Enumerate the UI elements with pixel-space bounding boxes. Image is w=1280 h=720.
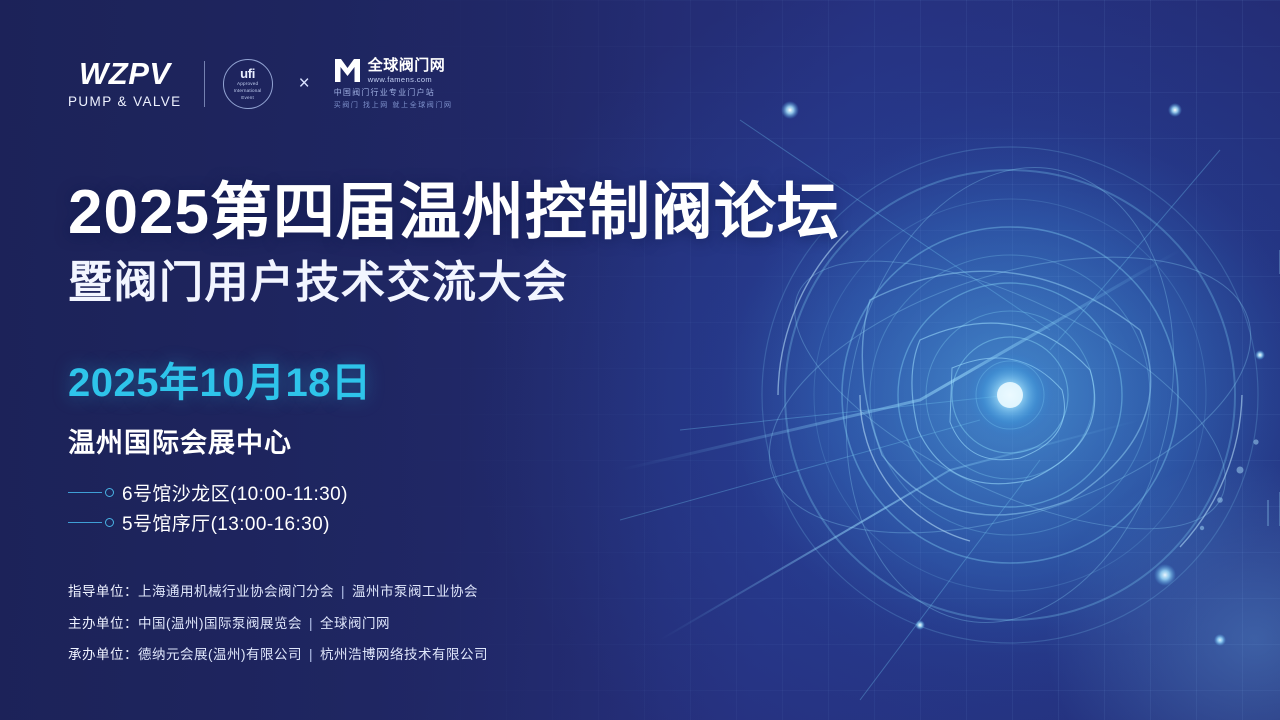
organizer-row-guidance: 指导单位：上海通用机械行业协会阀门分会|温州市泵阀工业协会 [68, 585, 488, 599]
organizer-second: 温州市泵阀工业协会 [352, 584, 478, 599]
organizer-second: 全球阀门网 [320, 616, 390, 631]
organizer-second: 杭州浩博网络技术有限公司 [320, 647, 488, 662]
logo-bar: WZPV PUMP & VALVE ufi Approved Internati… [68, 58, 453, 110]
organizer-first: 中国(温州)国际泵阀展览会 [138, 616, 302, 631]
event-poster: WZPV PUMP & VALVE ufi Approved Internati… [0, 0, 1280, 720]
session-label: 5号馆序厅(13:00-16:30) [122, 509, 330, 536]
session-bullet-icon [68, 518, 122, 527]
session-bullet-icon [68, 488, 122, 497]
organizer-first: 德纳元会展(温州)有限公司 [138, 647, 302, 662]
wzpv-logo-name: WZPV [79, 58, 171, 89]
logo-divider [204, 61, 205, 107]
event-venue: 温州国际会展中心 [68, 430, 968, 457]
ufi-badge-line1: Approved [237, 81, 258, 87]
organizer-label: 主办单位： [68, 616, 138, 631]
ufi-approved-badge-icon: ufi Approved International Event [223, 59, 273, 109]
main-content: 2025第四届温州控制阀论坛 暨阀门用户技术交流大会 2025年10月18日 温… [68, 180, 968, 537]
famens-logo-description: 中国阀门行业专业门户站 [334, 87, 453, 98]
session-list: 6号馆沙龙区(10:00-11:30) 5号馆序厅(13:00-16:30) [68, 477, 968, 537]
organizer-label: 承办单位： [68, 647, 138, 662]
event-title: 2025第四届温州控制阀论坛 [68, 180, 968, 247]
list-item: 6号馆沙龙区(10:00-11:30) [68, 477, 968, 507]
event-subtitle: 暨阀门用户技术交流大会 [68, 259, 968, 307]
session-label: 6号馆沙龙区(10:00-11:30) [122, 479, 348, 506]
famens-logo-url: www.famens.com [368, 75, 446, 84]
ufi-badge-word: ufi [240, 67, 255, 80]
famens-logo-name: 全球阀门网 [368, 58, 446, 74]
organizer-row-host: 主办单位：中国(温州)国际泵阀展览会|全球阀门网 [68, 617, 488, 631]
organizer-separator: | [341, 584, 345, 599]
famens-logo-description-secondary: 买阀门 找上网 就上全球阀门网 [334, 100, 453, 110]
ufi-badge-line2: International [234, 88, 262, 94]
wzpv-logo: WZPV PUMP & VALVE [68, 58, 182, 109]
organizer-label: 指导单位： [68, 584, 138, 599]
famens-m-mark-icon [334, 58, 361, 83]
event-date: 2025年10月18日 [68, 363, 968, 403]
logo-cross-separator: × [299, 73, 310, 95]
organizer-separator: | [309, 616, 313, 631]
ufi-badge-line3: Event [241, 95, 254, 101]
list-item: 5号馆序厅(13:00-16:30) [68, 507, 968, 537]
organizer-row-undertaker: 承办单位：德纳元会展(温州)有限公司|杭州浩博网络技术有限公司 [68, 648, 488, 662]
organizer-separator: | [309, 647, 313, 662]
organizer-first: 上海通用机械行业协会阀门分会 [138, 584, 334, 599]
wzpv-logo-tagline: PUMP & VALVE [68, 94, 182, 109]
organizer-list: 指导单位：上海通用机械行业协会阀门分会|温州市泵阀工业协会 主办单位：中国(温州… [68, 585, 488, 662]
famens-logo: 全球阀门网 www.famens.com 中国阀门行业专业门户站 买阀门 找上网… [334, 58, 453, 110]
